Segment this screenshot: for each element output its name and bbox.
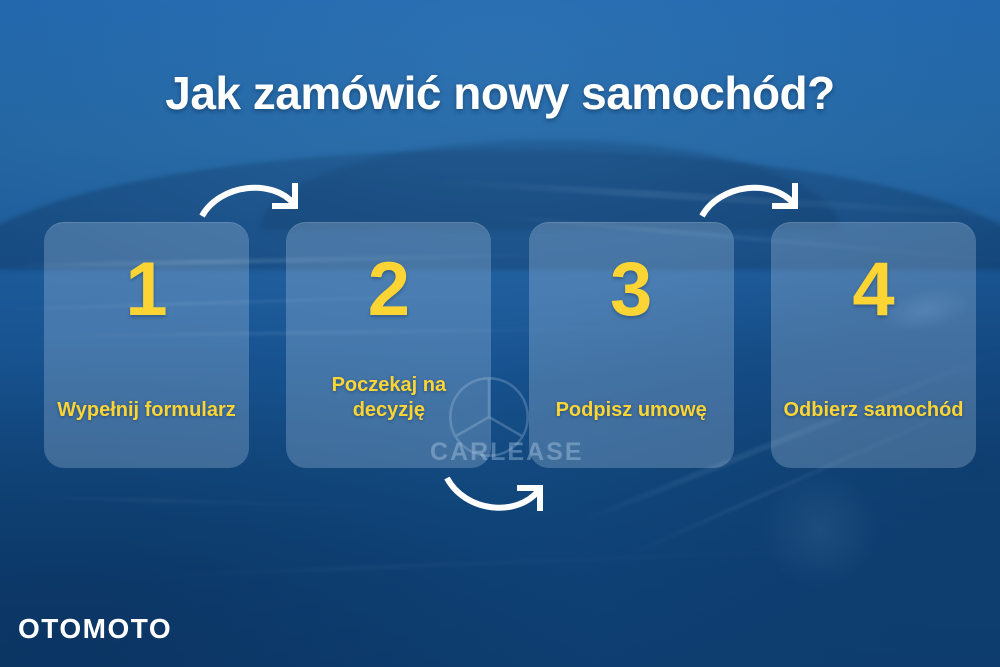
- step-card-3[interactable]: 3 Podpisz umowę: [529, 222, 734, 468]
- background-wheel-glow: [760, 470, 880, 590]
- step-label: Podpisz umowę: [546, 398, 717, 424]
- step-label: Wypełnij formularz: [47, 398, 246, 424]
- step-label: Odbierz samochód: [773, 398, 973, 424]
- steps-row: 1 Wypełnij formularz 2 Poczekaj na decyz…: [44, 222, 976, 468]
- page-title: Jak zamówić nowy samochód?: [0, 66, 1000, 120]
- step-number: 3: [610, 252, 652, 328]
- step-number: 2: [368, 252, 410, 328]
- step-number: 1: [125, 252, 167, 328]
- infographic-canvas: CARLEASE Jak zamówić nowy samochód? 1 Wy…: [0, 0, 1000, 667]
- step-number: 4: [852, 252, 894, 328]
- step-label: Poczekaj na decyzję: [286, 373, 491, 424]
- step-card-1[interactable]: 1 Wypełnij formularz: [44, 222, 249, 468]
- step-card-2[interactable]: 2 Poczekaj na decyzję: [286, 222, 491, 468]
- step-card-4[interactable]: 4 Odbierz samochód: [771, 222, 976, 468]
- brand-logo: OTOMOTO: [18, 613, 172, 645]
